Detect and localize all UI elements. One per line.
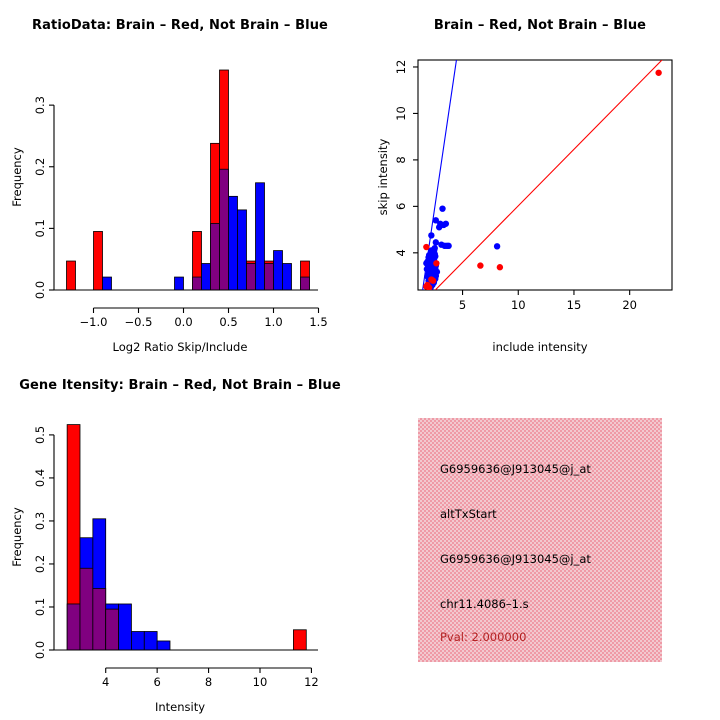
histogram-bar-overlap xyxy=(93,588,106,650)
histogram-bar xyxy=(119,604,132,650)
histogram-bar-overlap xyxy=(67,604,80,650)
scatter-plot: 51015204681012 xyxy=(360,0,720,360)
y-tick-label: 0.0 xyxy=(33,641,47,659)
histogram-bar-overlap xyxy=(211,223,220,290)
histogram-bar-overlap xyxy=(220,169,229,290)
histogram-bar xyxy=(229,196,238,290)
probeset-id-line-2: G6959636@J913045@j_at xyxy=(440,552,591,566)
pval-line: Pval: 2.000000 xyxy=(440,630,526,644)
scatter-point xyxy=(433,239,439,245)
histogram-bar xyxy=(283,264,292,290)
scatter-point xyxy=(428,232,434,238)
scatter-point xyxy=(497,264,503,270)
scatter-point xyxy=(436,224,442,230)
y-tick-label: 0.4 xyxy=(33,469,47,487)
y-tick-label: 0.0 xyxy=(33,281,47,299)
y-tick-label: 0.1 xyxy=(33,219,47,237)
trend-line xyxy=(434,60,662,291)
histogram-bar-overlap xyxy=(80,568,93,650)
x-tick-label: 4 xyxy=(102,675,109,689)
scatter-point xyxy=(655,70,661,76)
histogram-bars xyxy=(67,425,306,650)
x-tick-label: 0.0 xyxy=(174,315,192,329)
histogram-bar-overlap xyxy=(106,609,119,650)
x-tick-label: 15 xyxy=(567,298,582,312)
y-tick-label: 8 xyxy=(394,156,408,163)
ratio-histogram-panel: RatioData: Brain – Red, Not Brain – Blue… xyxy=(0,0,360,360)
histogram-bar xyxy=(103,277,112,290)
genomic-location-line: chr11.4086–1.s xyxy=(440,597,529,611)
x-tick-label: 0.5 xyxy=(219,315,237,329)
histogram-bar xyxy=(67,261,76,290)
scatter-point xyxy=(445,243,451,249)
histogram-bar xyxy=(256,183,265,290)
y-tick-label: 0.2 xyxy=(33,555,47,573)
probeset-id-line-1: G6959636@J913045@j_at xyxy=(440,462,591,476)
x-tick-label: 1.0 xyxy=(264,315,282,329)
histogram-bar xyxy=(238,210,247,290)
x-tick-label: −0.5 xyxy=(125,315,153,329)
x-tick-label: 20 xyxy=(622,298,637,312)
scatter-point xyxy=(426,284,432,290)
plot-frame xyxy=(418,60,672,290)
scatter-point xyxy=(439,205,445,211)
scatter-point xyxy=(423,244,429,250)
histogram-bar xyxy=(293,630,306,650)
probeset-info-box: G6959636@J913045@j_at altTxStart G695963… xyxy=(418,418,662,662)
histogram-bar xyxy=(94,231,103,290)
histogram-bar xyxy=(274,251,283,290)
y-tick-label: 4 xyxy=(394,249,408,256)
y-tick-label: 0.1 xyxy=(33,598,47,616)
x-tick-label: 8 xyxy=(205,675,212,689)
axes: 0.00.10.20.3−1.0−0.50.00.51.01.5 xyxy=(33,96,328,329)
x-tick-label: 6 xyxy=(153,675,160,689)
y-tick-label: 0.3 xyxy=(33,512,47,530)
scatter-point xyxy=(433,260,439,266)
histogram-bar-overlap xyxy=(265,264,274,290)
histogram-bar-overlap xyxy=(247,264,256,290)
x-tick-label: 10 xyxy=(253,675,268,689)
x-tick-label: −1.0 xyxy=(80,315,108,329)
gene-histogram-plot: 0.00.10.20.30.40.54681012 xyxy=(0,360,360,720)
y-tick-label: 12 xyxy=(394,60,408,75)
histogram-bar xyxy=(144,632,157,650)
y-tick-label: 0.3 xyxy=(33,96,47,114)
scatter-point xyxy=(443,221,449,227)
y-tick-label: 0.5 xyxy=(33,426,47,444)
histogram-bar xyxy=(157,641,170,650)
histogram-bars xyxy=(67,70,310,290)
scatter-content xyxy=(422,60,662,291)
x-tick-label: 10 xyxy=(511,298,526,312)
histogram-bar-overlap xyxy=(193,277,202,290)
scatter-point xyxy=(430,278,436,284)
y-tick-label: 10 xyxy=(394,106,408,121)
x-tick-label: 1.5 xyxy=(309,315,327,329)
histogram-bar-overlap xyxy=(301,277,310,290)
y-tick-label: 0.2 xyxy=(33,158,47,176)
scatter-point xyxy=(494,243,500,249)
histogram-bar xyxy=(175,277,184,290)
x-tick-label: 12 xyxy=(304,675,319,689)
scatter-point xyxy=(477,262,483,268)
probeset-info-panel: G6959636@J913045@j_at altTxStart G695963… xyxy=(360,360,720,720)
ratio-histogram-plot: 0.00.10.20.3−1.0−0.50.00.51.01.5 xyxy=(0,0,360,360)
histogram-bar xyxy=(202,264,211,290)
x-tick-label: 5 xyxy=(459,298,466,312)
y-tick-label: 6 xyxy=(394,203,408,210)
event-type-line: altTxStart xyxy=(440,507,497,521)
histogram-bar xyxy=(131,632,144,650)
gene-intensity-histogram-panel: Gene Itensity: Brain – Red, Not Brain – … xyxy=(0,360,360,720)
intensity-scatter-panel: Brain – Red, Not Brain – Blue skip inten… xyxy=(360,0,720,360)
